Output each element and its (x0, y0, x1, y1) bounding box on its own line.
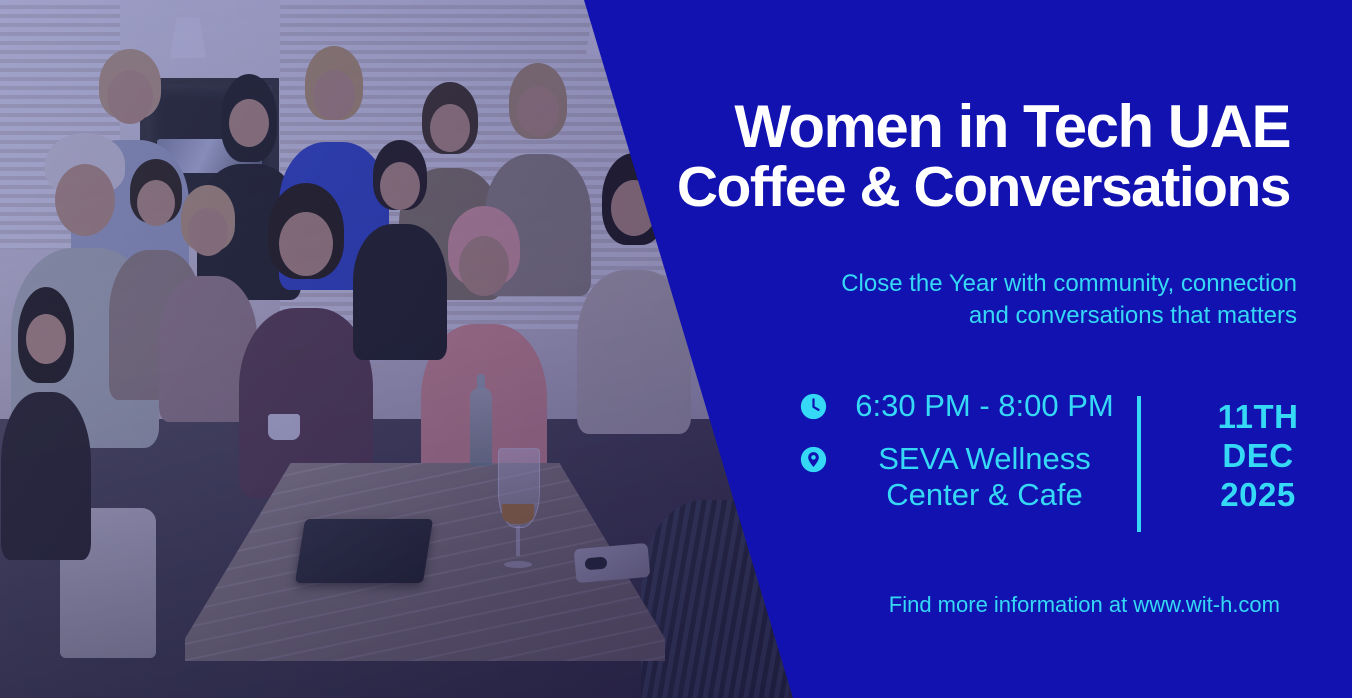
event-time-text: 6:30 PM - 8:00 PM (839, 388, 1130, 425)
content-area: Women in Tech UAE Coffee & Conversations… (660, 0, 1352, 698)
event-venue-item: SEVA Wellness Center & Cafe (800, 441, 1130, 514)
event-date-year: 2025 (1168, 476, 1348, 515)
event-title: Women in Tech UAE Coffee & Conversations (660, 96, 1290, 218)
event-time-item: 6:30 PM - 8:00 PM (800, 388, 1130, 425)
subtitle-line-1: Close the Year with community, connectio… (660, 268, 1297, 300)
subtitle-line-2: and conversations that matters (660, 300, 1297, 332)
event-date-month: DEC (1168, 437, 1348, 476)
clock-icon (800, 393, 827, 420)
event-banner: Women in Tech UAE Coffee & Conversations… (0, 0, 1352, 698)
event-info-column: 6:30 PM - 8:00 PM SEVA Wellness Center &… (800, 388, 1130, 530)
event-date-day: 11TH (1168, 398, 1348, 437)
event-date: 11TH DEC 2025 (1168, 398, 1348, 515)
vertical-divider (1137, 396, 1141, 532)
event-venue-text: SEVA Wellness Center & Cafe (839, 441, 1130, 514)
event-details: 6:30 PM - 8:00 PM SEVA Wellness Center &… (800, 388, 1352, 538)
event-venue-line-2: Center & Cafe (839, 477, 1130, 514)
event-subtitle: Close the Year with community, connectio… (660, 268, 1297, 332)
event-venue-line-1: SEVA Wellness (839, 441, 1130, 478)
title-line-2: Coffee & Conversations (660, 158, 1290, 217)
footer-info: Find more information at www.wit-h.com (660, 592, 1280, 618)
location-pin-icon (800, 446, 827, 473)
title-line-1: Women in Tech UAE (660, 96, 1290, 158)
event-time-value: 6:30 PM - 8:00 PM (839, 388, 1130, 425)
